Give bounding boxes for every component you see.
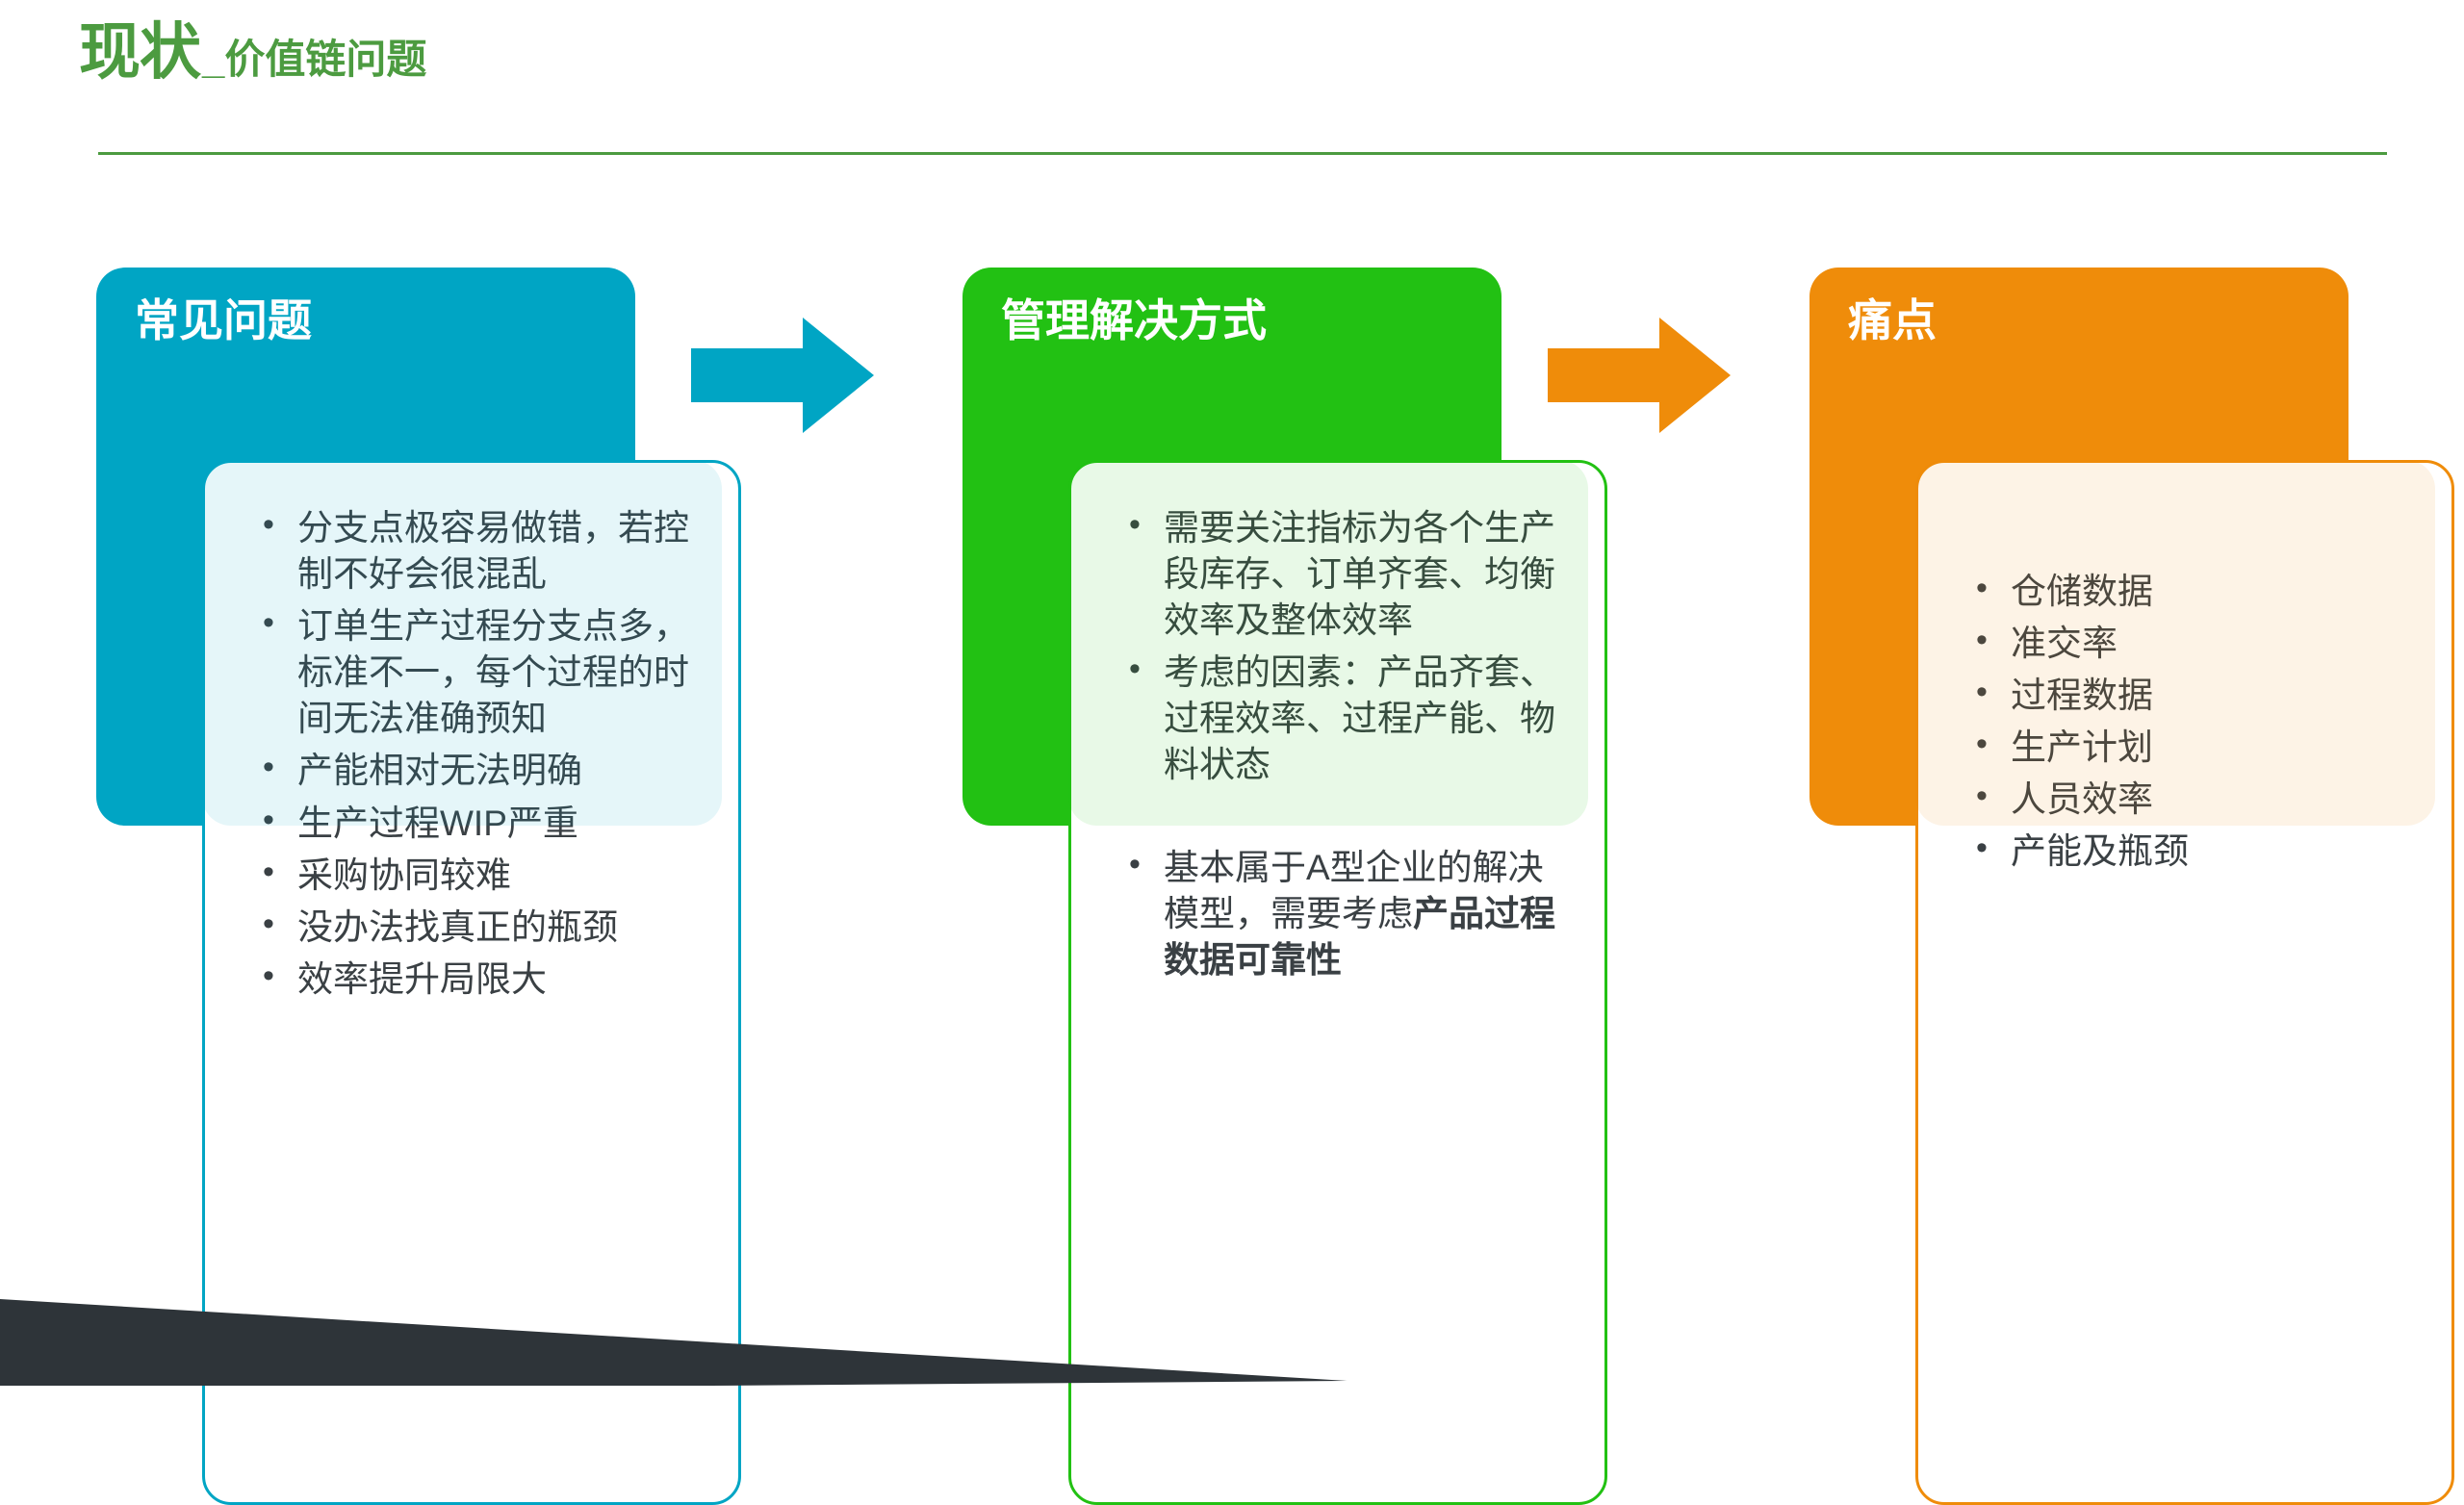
list-item: 生产过程WIP严重 xyxy=(259,801,711,847)
list-item: 人员效率 xyxy=(1972,777,2425,823)
list-item: 需要关注指标为各个生产段库存、订单齐套、均衡效率及整体效率 xyxy=(1125,505,1578,644)
column-header-label-1: 常见问题 xyxy=(135,294,312,347)
page-title: 现状 _价值链问题 xyxy=(79,21,426,83)
list-spacer xyxy=(1125,795,1578,839)
list-item: 没办法找真正的瓶颈 xyxy=(259,905,711,951)
page-title-sub: _价值链问题 xyxy=(202,39,426,80)
list-item: 分支点极容易做错，若控制不好会很混乱 xyxy=(259,505,711,598)
list-item: 效率提升局限大 xyxy=(259,957,711,1003)
list-item: 生产计划 xyxy=(1972,725,2425,771)
list-item: 产能及瓶颈 xyxy=(1972,829,2425,875)
list-item: 产能相对无法明确 xyxy=(259,748,711,794)
bullet-list-3: 仓储数据 准交率 过程数据 生产计划 人员效率 产能及瓶颈 xyxy=(1918,463,2451,881)
list-item: 订单生产过程分支点多，标准不一，每个过程的时间无法准确预知 xyxy=(259,603,711,742)
list-item: 采购协同较难 xyxy=(259,853,711,899)
title-divider-rule xyxy=(98,152,2387,155)
emphasis-text: 产品过程数据可靠性 xyxy=(1164,894,1555,980)
arrow-right-icon xyxy=(1548,318,1731,433)
bullet-list-1: 分支点极容易做错，若控制不好会很混乱 订单生产过程分支点多，标准不一，每个过程的… xyxy=(205,463,738,1008)
list-item: 仓储数据 xyxy=(1972,569,2425,615)
footer-dark-triangle xyxy=(0,1299,1347,1386)
list-item: 准交率 xyxy=(1972,621,2425,667)
bullet-list-2: 需要关注指标为各个生产段库存、订单齐套、均衡效率及整体效率 考虑的因素：产品齐套… xyxy=(1071,463,1604,989)
column-header-label-2: 管理解决方式 xyxy=(1001,294,1267,347)
flow-arrow-1 xyxy=(691,318,874,438)
page-title-main: 现状 xyxy=(79,21,200,83)
page-number: 10 xyxy=(2403,1330,2433,1357)
arrow-right-icon xyxy=(691,318,874,433)
flow-arrow-2 xyxy=(1548,318,1731,438)
column-header-label-3: 痛点 xyxy=(1848,294,1937,347)
list-item: 过程数据 xyxy=(1972,673,2425,719)
list-item-emphasis: 基本属于A型企业的解决模型，需要考虑产品过程数据可靠性 xyxy=(1125,845,1578,983)
list-item: 考虑的因素：产品齐套、过程效率、过程产能、物料状态 xyxy=(1125,650,1578,788)
footer-decoration xyxy=(0,1261,2464,1386)
